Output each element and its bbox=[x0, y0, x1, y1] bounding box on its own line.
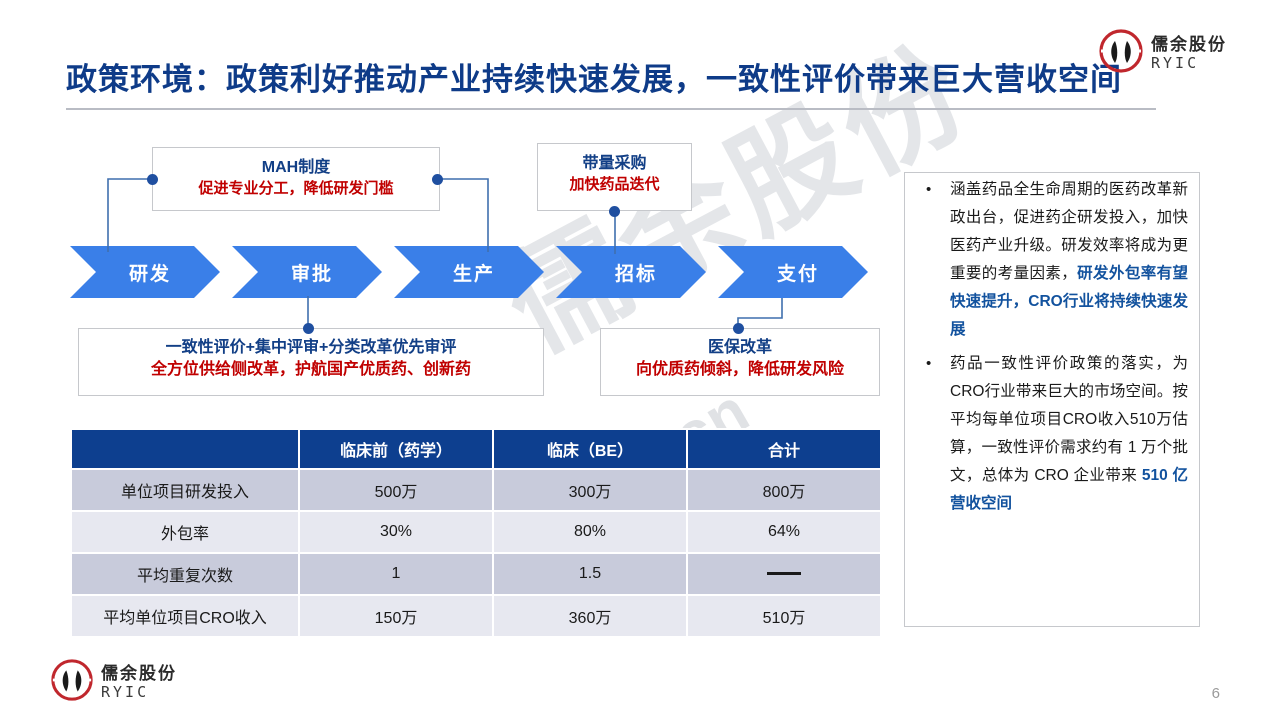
insight-bullet-2: 药品一致性评价政策的落实，为CRO行业带来巨大的市场空间。按平均每单位项目CRO… bbox=[904, 350, 1200, 518]
insight-bullet-2-plain: 药品一致性评价政策的落实，为CRO行业带来巨大的市场空间。按平均每单位项目CRO… bbox=[950, 355, 1188, 484]
connector-dot-mah-left bbox=[147, 174, 158, 185]
note-box-mah-title: MAH制度 bbox=[153, 157, 439, 179]
table-header-cell-0 bbox=[71, 429, 299, 469]
table-cell: 800万 bbox=[687, 469, 881, 511]
note-box-vbp-desc: 加快药品迭代 bbox=[538, 175, 691, 195]
note-box-consistency-title: 一致性评价+集中评审+分类改革优先审评 bbox=[79, 337, 543, 359]
table-cell: 80% bbox=[493, 511, 687, 553]
insight-bullet-1: 涵盖药品全生命周期的医药改革新政出台，促进药企研发投入，加快医药产业升级。研发效… bbox=[904, 176, 1200, 344]
logo-top-right: 儒余股份 RYIC bbox=[1098, 28, 1227, 79]
note-box-mah-desc: 促进专业分工，降低研发门槛 bbox=[153, 179, 439, 199]
table-cell: 30% bbox=[299, 511, 493, 553]
flow-step-payment[interactable]: 支付 bbox=[718, 246, 868, 298]
table-row: 平均重复次数 1 1.5 bbox=[71, 553, 881, 595]
flow-step-production-label: 生产 bbox=[453, 259, 495, 286]
table-cell: 300万 bbox=[493, 469, 687, 511]
flow-step-approval[interactable]: 审批 bbox=[232, 246, 382, 298]
logo-top-text: 儒余股份 RYIC bbox=[1151, 37, 1227, 71]
table-header-cell-1: 临床前（药学） bbox=[299, 429, 493, 469]
note-box-consistency: 一致性评价+集中评审+分类改革优先审评 全方位供给侧改革，护航国产优质药、创新药 bbox=[78, 328, 544, 396]
connector-dot-insurance-top bbox=[733, 323, 744, 334]
ryic-emblem-icon bbox=[1098, 28, 1144, 79]
note-box-mah: MAH制度 促进专业分工，降低研发门槛 bbox=[152, 147, 440, 211]
logo-en-text: RYIC bbox=[1151, 56, 1227, 71]
flow-step-payment-label: 支付 bbox=[777, 259, 819, 286]
logo-cn-text: 儒余股份 bbox=[101, 666, 177, 683]
table-row-label: 单位项目研发投入 bbox=[71, 469, 299, 511]
logo-en-text: RYIC bbox=[101, 685, 177, 700]
table-cell: 1 bbox=[299, 553, 493, 595]
logo-cn-text: 儒余股份 bbox=[1151, 37, 1227, 54]
table-header-row: 临床前（药学） 临床（BE） 合计 bbox=[71, 429, 881, 469]
insight-panel: 涵盖药品全生命周期的医药改革新政出台，促进药企研发投入，加快医药产业升级。研发效… bbox=[904, 176, 1200, 524]
flow-step-bidding-label: 招标 bbox=[615, 259, 657, 286]
note-box-insurance-title: 医保改革 bbox=[601, 337, 879, 359]
table-header-cell-2: 临床（BE） bbox=[493, 429, 687, 469]
table-row: 平均单位项目CRO收入 150万 360万 510万 bbox=[71, 595, 881, 637]
table-cell: 64% bbox=[687, 511, 881, 553]
table-cell: 510万 bbox=[687, 595, 881, 637]
connector-vbp-to-bid bbox=[608, 210, 628, 254]
note-box-consistency-desc: 全方位供给侧改革，护航国产优质药、创新药 bbox=[79, 359, 543, 381]
table-row-label: 外包率 bbox=[71, 511, 299, 553]
table-cell: 150万 bbox=[299, 595, 493, 637]
flow-step-bidding[interactable]: 招标 bbox=[556, 246, 706, 298]
table-header-cell-3: 合计 bbox=[687, 429, 881, 469]
page-number: 6 bbox=[1212, 685, 1220, 702]
table-cell-dash bbox=[687, 553, 881, 595]
connector-dot-mah-right bbox=[432, 174, 443, 185]
table-cell: 360万 bbox=[493, 595, 687, 637]
em-dash-icon bbox=[767, 572, 801, 575]
flow-step-approval-label: 审批 bbox=[291, 259, 333, 286]
table-cell: 500万 bbox=[299, 469, 493, 511]
note-box-insurance-desc: 向优质药倾斜，降低研发风险 bbox=[601, 359, 879, 381]
note-box-vbp: 带量采购 加快药品迭代 bbox=[537, 143, 692, 211]
logo-bottom-left: 儒余股份 RYIC bbox=[50, 658, 177, 707]
cro-cost-table: 临床前（药学） 临床（BE） 合计 单位项目研发投入 500万 300万 800… bbox=[70, 428, 882, 638]
connector-dot-consistency-top bbox=[303, 323, 314, 334]
note-box-vbp-title: 带量采购 bbox=[538, 153, 691, 175]
slide-title: 政策环境：政策利好推动产业持续快速发展，一致性评价带来巨大营收空间 bbox=[66, 58, 1156, 110]
table-cell: 1.5 bbox=[493, 553, 687, 595]
note-box-insurance: 医保改革 向优质药倾斜，降低研发风险 bbox=[600, 328, 880, 396]
slide-title-text: 政策环境：政策利好推动产业持续快速发展，一致性评价带来巨大营收空间 bbox=[66, 58, 1156, 102]
flow-step-rd-label: 研发 bbox=[129, 259, 171, 286]
table-row-label: 平均重复次数 bbox=[71, 553, 299, 595]
table-row: 外包率 30% 80% 64% bbox=[71, 511, 881, 553]
logo-bottom-text: 儒余股份 RYIC bbox=[101, 666, 177, 700]
ryic-emblem-icon bbox=[50, 658, 94, 707]
slide-canvas: 儒余股份 www.ryic.cn 政策环境：政策利好推动产业持续快速发展，一致性… bbox=[0, 0, 1280, 720]
connector-mah-to-rd bbox=[100, 174, 160, 254]
table-row-label: 平均单位项目CRO收入 bbox=[71, 595, 299, 637]
connector-dot-vbp-bottom bbox=[609, 206, 620, 217]
table-row: 单位项目研发投入 500万 300万 800万 bbox=[71, 469, 881, 511]
connector-mah-to-prod bbox=[436, 174, 496, 254]
